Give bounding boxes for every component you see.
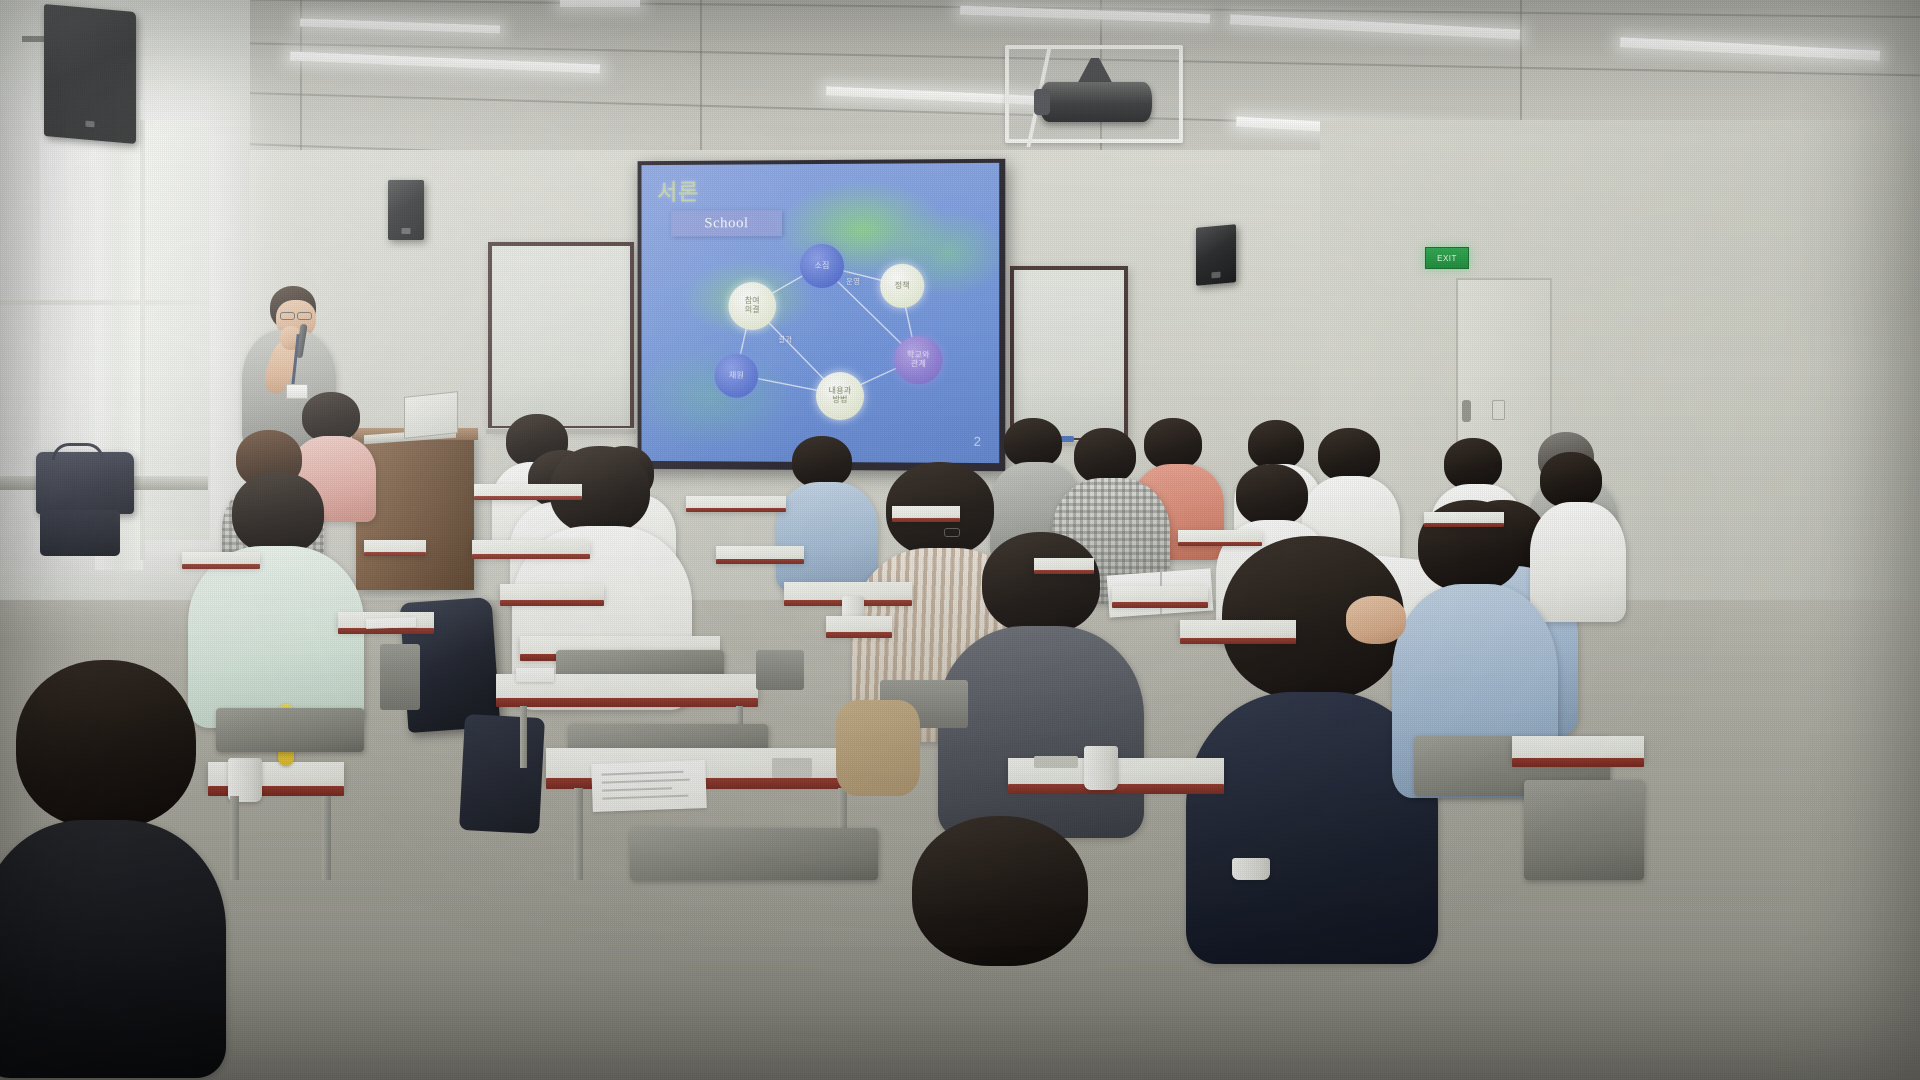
slide-network-edges [642, 163, 1000, 463]
eyeglasses-case[interactable] [772, 758, 812, 778]
glasses-icon [280, 312, 295, 320]
desk-edge [1034, 570, 1094, 574]
whiteboard-right [1010, 266, 1128, 442]
desk-edge [182, 564, 260, 569]
attendee-hair [302, 392, 360, 442]
attendee-shirt [1530, 502, 1626, 622]
door-handle[interactable] [1462, 400, 1471, 422]
name-badge [286, 384, 308, 399]
laptop-screen[interactable] [404, 391, 458, 439]
classroom-photograph: EXIT 서론 School 참여 [0, 0, 1920, 1080]
glasses-icon [297, 312, 312, 320]
desk-edge [686, 508, 786, 512]
slide-node-participation: 참여 의결 [728, 282, 776, 330]
slide-content: 서론 School 참여 의결 소집 정책 학교와 관계 재원 내용과 방법 [642, 163, 1000, 463]
attendee-shirt [188, 546, 364, 728]
slide-chip-school: School [671, 210, 782, 236]
slide-edge-label-operation: 운영 [846, 276, 860, 287]
desk-edge [496, 698, 758, 707]
chair-backrest[interactable] [216, 708, 364, 752]
eyeglasses[interactable] [1034, 756, 1078, 768]
desk-leg [520, 706, 527, 768]
desk-leg [322, 796, 331, 880]
left-wall-speaker [44, 4, 136, 144]
desk-edge [1178, 542, 1262, 546]
ceiling-projector [1040, 82, 1152, 122]
front-wall-speaker [388, 180, 424, 240]
desk-edge [500, 600, 604, 606]
slide-node-convene: 소집 [800, 244, 844, 288]
attendee-hair [792, 436, 852, 488]
attendee-leg [836, 700, 920, 796]
projection-screen: 서론 School 참여 의결 소집 정책 학교와 관계 재원 내용과 방법 [638, 159, 1006, 471]
paper-handout[interactable] [366, 617, 416, 629]
bag[interactable] [459, 714, 545, 834]
attendee-hair [1236, 464, 1308, 526]
attendee-hair [232, 472, 324, 554]
attendee-hair [1144, 418, 1202, 470]
attendee-shirt [776, 482, 878, 590]
attendee-arm [1346, 596, 1406, 644]
attendee-hair [982, 532, 1100, 634]
desk-edge [826, 632, 892, 638]
chair-seat[interactable] [756, 650, 804, 690]
attendee-hair [1540, 452, 1602, 508]
desk-leg [230, 796, 239, 880]
attendee-hair [16, 660, 196, 828]
desk-edge [1512, 758, 1644, 767]
slide-node-resources: 재원 [715, 354, 759, 398]
chair-seat[interactable] [380, 644, 420, 710]
window-frame [140, 120, 145, 560]
glasses-icon [944, 528, 960, 537]
paper-handout[interactable] [591, 760, 707, 812]
chair-backrest[interactable] [630, 828, 878, 880]
slide-title: 서론 [657, 175, 699, 207]
right-wall-speaker [1196, 224, 1236, 285]
desk-edge [892, 518, 960, 522]
attendee-hair [1074, 428, 1136, 484]
speaker-port-icon [86, 120, 95, 127]
desk-edge [338, 628, 434, 634]
whiteboard-left [488, 242, 634, 430]
exit-sign: EXIT [1425, 247, 1469, 269]
attendee-shirt [938, 626, 1144, 838]
speaker-port-icon [1212, 272, 1221, 279]
slide-page-number: 2 [974, 434, 981, 449]
desk-edge [1112, 602, 1208, 608]
desk-leg [574, 788, 583, 880]
attendee-hair [1318, 428, 1380, 482]
desk-edge [716, 559, 804, 564]
attendee-shirt [0, 820, 226, 1078]
attendee-hair [912, 816, 1088, 966]
projector-lens [1034, 89, 1050, 115]
slide-node-policy: 정책 [880, 264, 924, 308]
thermostat[interactable] [1492, 400, 1505, 420]
slide-node-content-method: 내용과 방법 [816, 372, 864, 420]
exit-sign-label: EXIT [1437, 254, 1457, 263]
attendee-hair [1248, 420, 1304, 470]
paper-handout[interactable] [516, 668, 554, 682]
desk-edge [474, 496, 582, 500]
window-frame [0, 300, 210, 305]
chair-backrest[interactable] [1524, 780, 1644, 880]
desk-edge [1180, 638, 1296, 644]
desk-edge [364, 552, 426, 556]
attendee-hair [1444, 438, 1502, 490]
student-desk[interactable] [1180, 620, 1296, 640]
desk-edge [1424, 523, 1504, 527]
ceiling-light-strip [560, 0, 640, 7]
paper-cup[interactable] [1232, 858, 1270, 880]
attendee-hair [1004, 418, 1062, 468]
desk-edge [472, 554, 590, 559]
speaker-port-icon [402, 228, 411, 234]
bag[interactable] [40, 510, 120, 556]
paper-cup[interactable] [1084, 746, 1118, 790]
slide-edge-label-result: 결과 [778, 334, 792, 345]
slide-node-school-relation: 학교와 관계 [894, 336, 942, 384]
bag[interactable] [36, 452, 134, 514]
